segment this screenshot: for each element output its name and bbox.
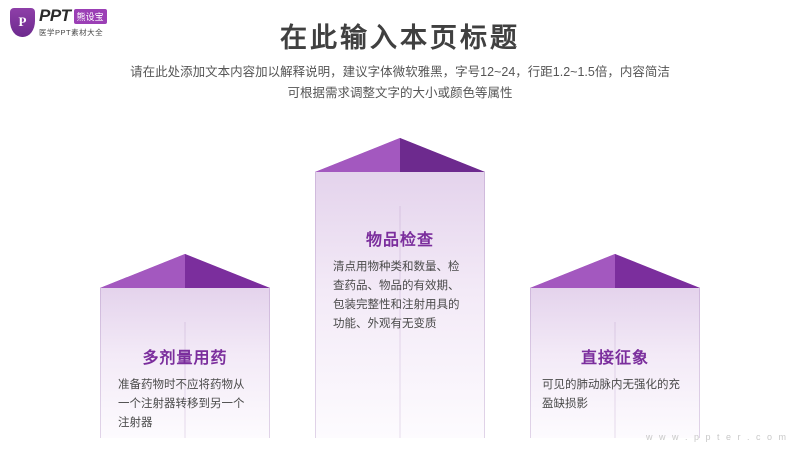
- watermark: w w w . p p t e r . c o m: [646, 432, 788, 442]
- column-multi-dose-medication[interactable]: 多剂量用药 准备药物时不应将药物从一个注射器转移到另一个注射器: [100, 254, 270, 438]
- column-title-direct-signs: 直接征象: [530, 344, 700, 368]
- page-subtitle-line-1: 请在此处添加文本内容加以解释说明，建议字体微软雅黑，字号12~24，行距1.2~…: [0, 62, 800, 83]
- column-direct-signs[interactable]: 直接征象 可见的肺动脉内无强化的充盈缺损影: [530, 254, 700, 438]
- column-item-inspection[interactable]: 物品检查 清点用物种类和数量、检查药品、物品的有效期、包装完整性和注射用具的功能…: [315, 138, 485, 438]
- page-subtitle-line-2: 可根据需求调整文字的大小或颜色等属性: [0, 83, 800, 104]
- page-subtitle: 请在此处添加文本内容加以解释说明，建议字体微软雅黑，字号12~24，行距1.2~…: [0, 62, 800, 104]
- column-title-multi-dose-medication: 多剂量用药: [100, 344, 270, 368]
- column-desc-multi-dose-medication: 准备药物时不应将药物从一个注射器转移到另一个注射器: [118, 376, 252, 433]
- page-title: 在此输入本页标题: [0, 16, 800, 55]
- column-title-item-inspection: 物品检查: [315, 226, 485, 250]
- column-desc-direct-signs: 可见的肺动脉内无强化的充盈缺损影: [542, 376, 688, 414]
- column-desc-item-inspection: 清点用物种类和数量、检查药品、物品的有效期、包装完整性和注射用具的功能、外观有无…: [333, 258, 467, 334]
- prism-diagram: 多剂量用药 准备药物时不应将药物从一个注射器转移到另一个注射器 物品检查 清点用…: [0, 118, 800, 438]
